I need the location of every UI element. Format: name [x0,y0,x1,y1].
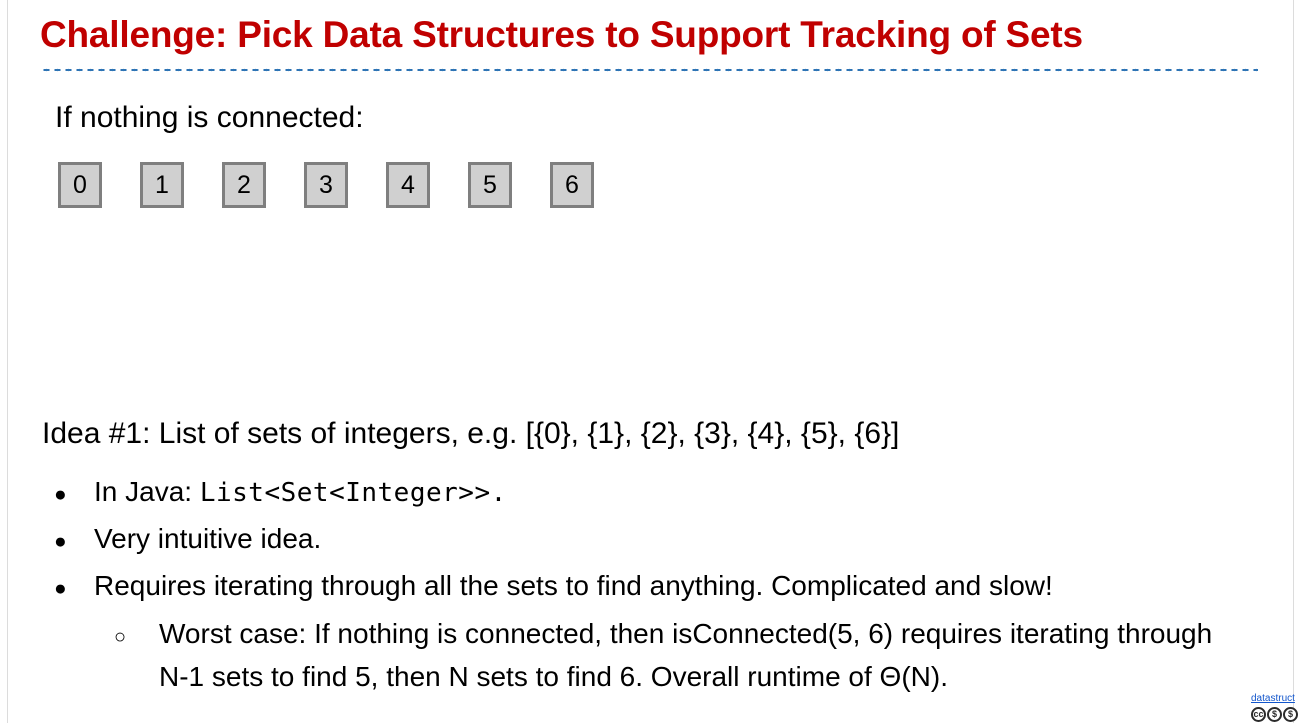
cc-mark-icon: cc [1251,707,1266,722]
set-box: 0 [58,162,102,208]
course-link[interactable]: datastruct [1251,693,1299,705]
slide-canvas: Challenge: Pick Data Structures to Suppo… [0,0,1299,723]
bullet-item-requires-iterating: ● Requires iterating through all the set… [42,564,1272,611]
set-box: 6 [550,162,594,208]
bullet-text-suffix: . [491,478,507,508]
set-box-label: 3 [319,173,333,198]
sub-bullet-text: Worst case: If nothing is connected, the… [159,612,1244,698]
slide-left-edge [0,0,8,723]
bullet-code-snippet: List<Set<Integer>> [200,478,491,508]
slide-right-edge [1293,0,1299,723]
bullet-item-in-java: ● In Java: List<Set<Integer>>. [42,470,1272,517]
set-box-label: 0 [73,173,87,198]
set-box-label: 1 [155,173,169,198]
idea-heading: Idea #1: List of sets of integers, e.g. … [42,417,899,451]
sub-bullet-marker-icon: ○ [42,616,159,659]
bullet-text-prefix: In Java: [94,476,200,507]
bullet-text: Requires iterating through all the sets … [94,564,1272,608]
bullet-item-intuitive: ● Very intuitive idea. [42,517,1272,564]
set-box: 2 [222,162,266,208]
cc-sa-icon: $ [1283,707,1298,722]
bullet-marker-icon: ● [42,473,94,517]
bullet-marker-icon: ● [42,567,94,611]
bullet-text: In Java: List<Set<Integer>>. [94,470,1272,515]
set-box-label: 4 [401,173,415,198]
cc-by-icon: $ [1267,707,1282,722]
sub-bullet-item-worst-case: ○ Worst case: If nothing is connected, t… [42,612,1272,698]
bullet-marker-icon: ● [42,520,94,564]
set-box: 3 [304,162,348,208]
set-box-label: 6 [565,173,579,198]
slide-title: Challenge: Pick Data Structures to Suppo… [40,14,1260,56]
set-box: 1 [140,162,184,208]
set-box-label: 2 [237,173,251,198]
attribution-block: datastruct cc $ $ [1251,693,1299,722]
intro-text: If nothing is connected: [55,101,364,135]
set-box-label: 5 [483,173,497,198]
set-box: 4 [386,162,430,208]
set-box: 5 [468,162,512,208]
title-divider [41,68,1258,72]
bullet-text: Very intuitive idea. [94,517,1272,561]
bullet-list: ● In Java: List<Set<Integer>>. ● Very in… [42,470,1272,698]
creative-commons-icon[interactable]: cc $ $ [1251,707,1299,722]
disjoint-set-box-row: 0 1 2 3 4 5 6 [58,162,594,208]
